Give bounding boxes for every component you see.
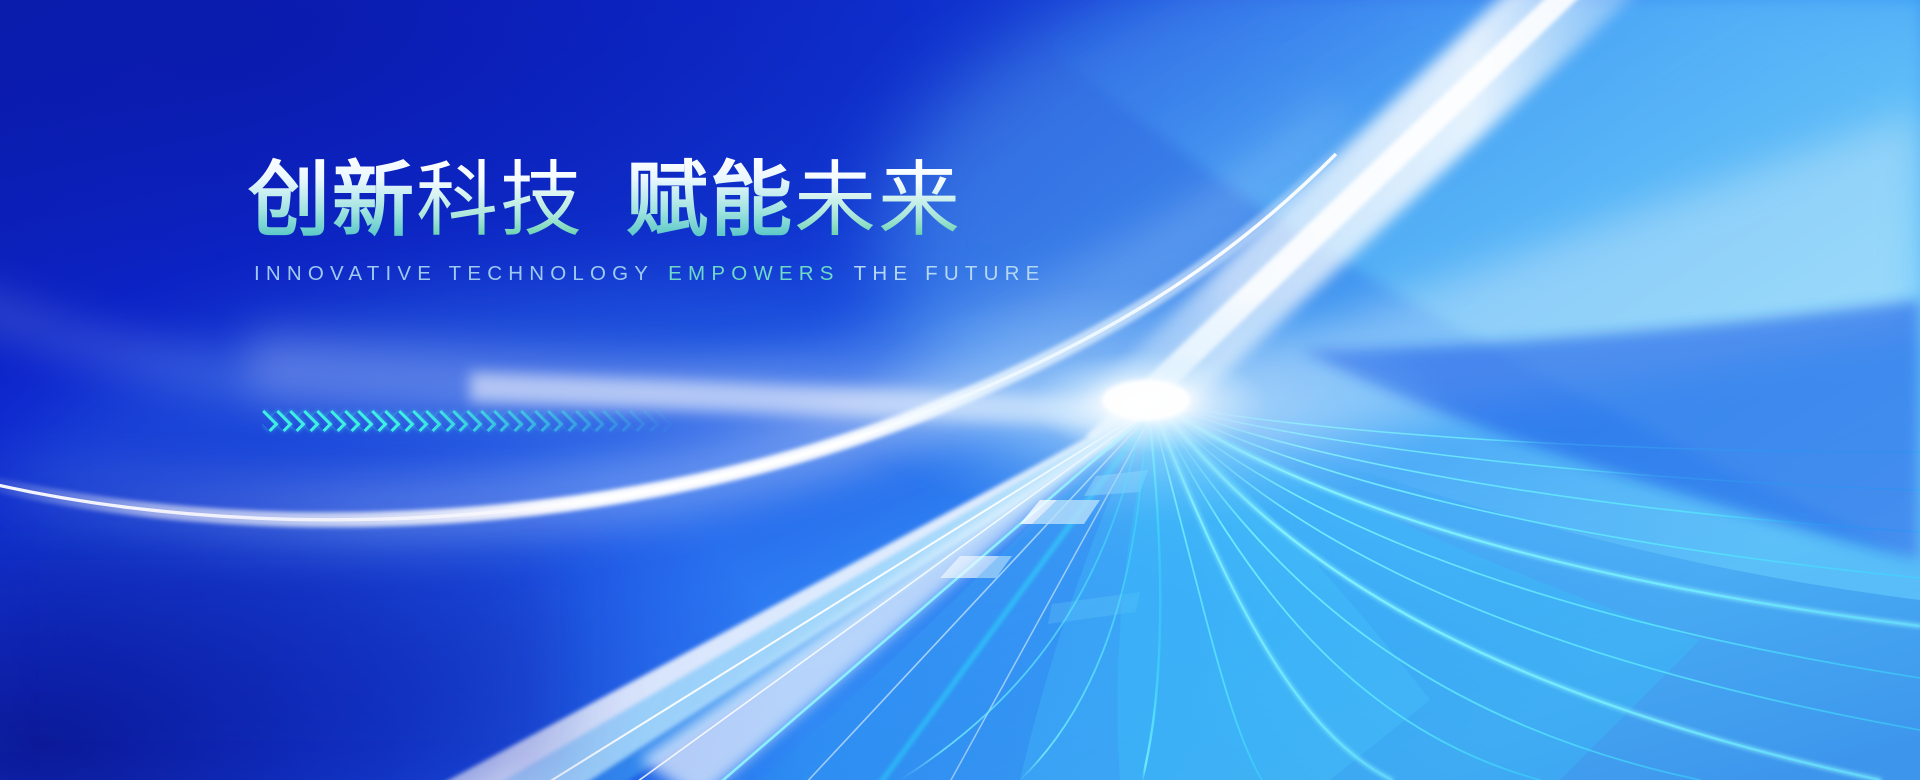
bg-base — [0, 0, 1920, 780]
background-artwork — [0, 0, 1920, 780]
headline-part1-thin: 科技 — [416, 155, 584, 246]
headline-part2-thin: 未来 — [794, 155, 962, 246]
light-core — [1028, 350, 1268, 454]
subtitle-segment-1: INNOVATIVE TECHNOLOGY — [254, 262, 654, 285]
poster-canvas: 创新科技赋能未来 INNOVATIVE TECHNOLOGYEMPOWERSTH… — [0, 0, 1920, 780]
subtitle: INNOVATIVE TECHNOLOGYEMPOWERSTHE FUTURE — [254, 262, 1148, 286]
light-core-halo — [850, 284, 1450, 524]
left-streak-bundle — [430, 402, 1152, 780]
headline-block: 创新科技赋能未来 INNOVATIVE TECHNOLOGYEMPOWERSTH… — [248, 160, 1148, 286]
page-title: 创新科技赋能未来 — [248, 160, 1148, 242]
headline-part2-bold: 赋能 — [626, 155, 794, 246]
right-fan — [760, 404, 1920, 780]
facet-plates — [940, 470, 1148, 624]
subtitle-segment-2: EMPOWERS — [668, 262, 839, 285]
chevron-row-decoration — [262, 404, 682, 438]
headline-part1-bold: 创新 — [248, 155, 416, 246]
subtitle-segment-3: THE FUTURE — [854, 262, 1046, 285]
fan-arc-lines — [900, 404, 1920, 780]
